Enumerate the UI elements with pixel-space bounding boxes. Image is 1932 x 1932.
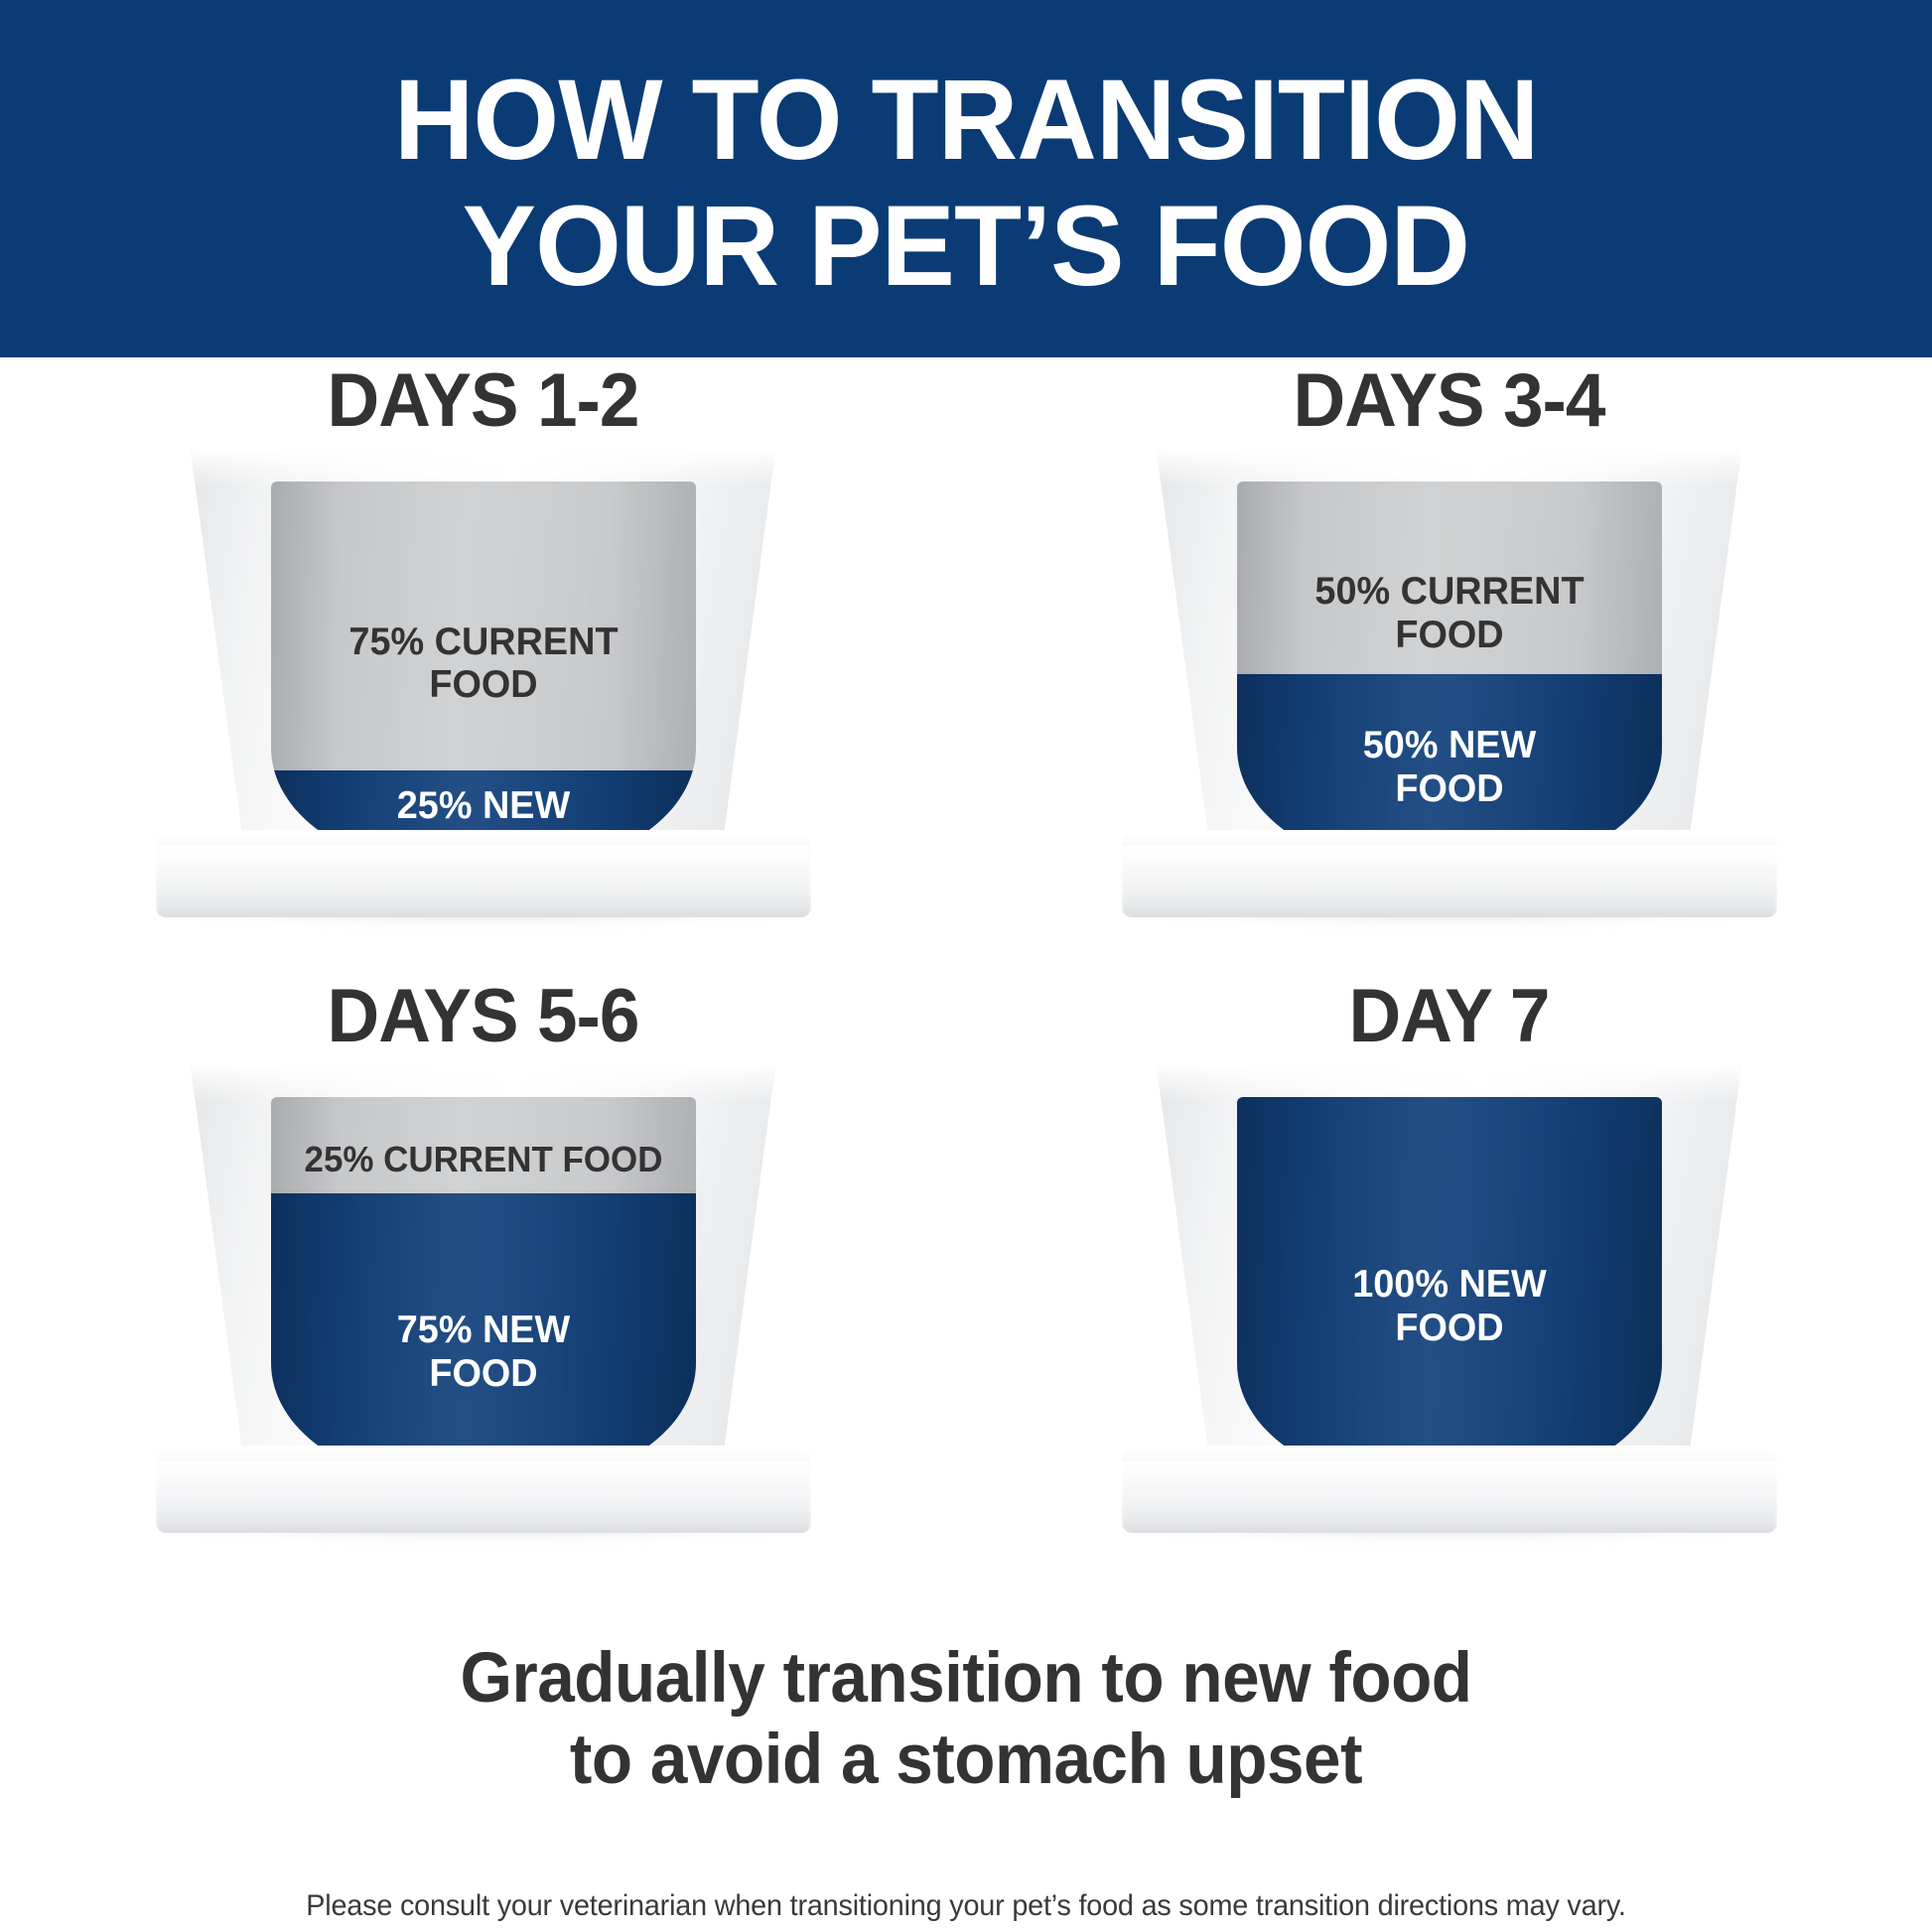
step-card-days-1-2: DAYS 1-2 75% CURRENT FOOD 25% NEW FOOD bbox=[0, 357, 966, 998]
pet-bowl-day-7: 100% NEW FOOD bbox=[1122, 1064, 1777, 1541]
bowl-base-lip bbox=[1122, 830, 1777, 846]
infographic-page: HOW TO TRANSITION YOUR PET’S FOOD DAYS 1… bbox=[0, 0, 1932, 1932]
bowl-base-lip bbox=[156, 830, 811, 846]
footer-section: Gradually transition to new food to avoi… bbox=[0, 1638, 1932, 1923]
step-heading-days-3-4: DAYS 3-4 bbox=[985, 357, 1912, 444]
step-heading-days-1-2: DAYS 1-2 bbox=[19, 357, 946, 444]
pet-bowl-days-3-4: 50% CURRENT FOOD 50% NEW FOOD bbox=[1122, 449, 1777, 925]
bowl-food-area: 100% NEW FOOD bbox=[1237, 1097, 1662, 1482]
current-food-label: 50% CURRENT FOOD bbox=[1243, 570, 1655, 656]
bowl-food-area: 75% CURRENT FOOD 25% NEW FOOD bbox=[271, 482, 696, 867]
step-card-days-3-4: DAYS 3-4 50% CURRENT FOOD 50% NEW FOOD bbox=[966, 357, 1932, 998]
tagline-line-1: Gradually transition to new food bbox=[49, 1638, 1884, 1720]
header-banner: HOW TO TRANSITION YOUR PET’S FOOD bbox=[0, 0, 1932, 357]
pet-bowl-days-5-6: 25% CURRENT FOOD 75% NEW FOOD bbox=[156, 1064, 811, 1541]
new-food-label: 50% NEW FOOD bbox=[1243, 724, 1655, 810]
step-card-days-5-6: DAYS 5-6 25% CURRENT FOOD 75% NEW FOOD bbox=[0, 973, 966, 1613]
current-food-label: 75% CURRENT FOOD bbox=[277, 621, 689, 707]
step-heading-day-7: DAY 7 bbox=[985, 973, 1912, 1059]
tagline-line-2: to avoid a stomach upset bbox=[49, 1720, 1884, 1801]
new-food-label: 75% NEW FOOD bbox=[277, 1309, 689, 1395]
transition-steps-grid: DAYS 1-2 75% CURRENT FOOD 25% NEW FOOD bbox=[0, 357, 1932, 1638]
bowl-food-area: 25% CURRENT FOOD 75% NEW FOOD bbox=[271, 1097, 696, 1482]
bowl-food-area: 50% CURRENT FOOD 50% NEW FOOD bbox=[1237, 482, 1662, 867]
bowl-base-lip bbox=[1122, 1446, 1777, 1461]
current-food-label: 25% CURRENT FOOD bbox=[277, 1140, 689, 1179]
bowl-base-lip bbox=[156, 1446, 811, 1461]
pet-bowl-days-1-2: 75% CURRENT FOOD 25% NEW FOOD bbox=[156, 449, 811, 925]
new-food-label: 100% NEW FOOD bbox=[1243, 1263, 1655, 1349]
page-title-line-1: HOW TO TRANSITION bbox=[394, 64, 1539, 178]
page-title-line-2: YOUR PET’S FOOD bbox=[463, 190, 1469, 304]
step-heading-days-5-6: DAYS 5-6 bbox=[19, 973, 946, 1059]
disclaimer-text: Please consult your veterinarian when tr… bbox=[39, 1889, 1893, 1923]
step-card-day-7: DAY 7 100% NEW FOOD bbox=[966, 973, 1932, 1613]
